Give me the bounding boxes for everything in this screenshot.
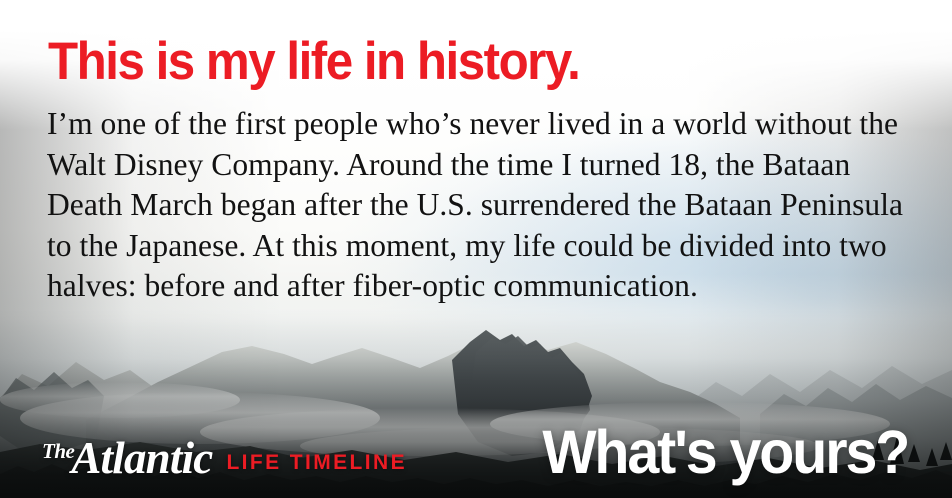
logo-atlantic-text: Atlantic [71, 438, 212, 478]
headline: This is my life in history. [48, 34, 848, 90]
body-paragraph: I’m one of the first people who’s never … [47, 104, 919, 307]
card-content: This is my life in history. I’m one of t… [0, 0, 952, 498]
brand-footer: The Atlantic LIFE TIMELINE [42, 440, 407, 478]
call-to-action-text: What's yours? [542, 420, 908, 484]
life-timeline-share-card: This is my life in history. I’m one of t… [0, 0, 952, 498]
atlantic-logo[interactable]: The Atlantic [42, 440, 212, 478]
life-timeline-kicker: LIFE TIMELINE [226, 452, 407, 473]
logo-the-text: The [42, 441, 74, 462]
